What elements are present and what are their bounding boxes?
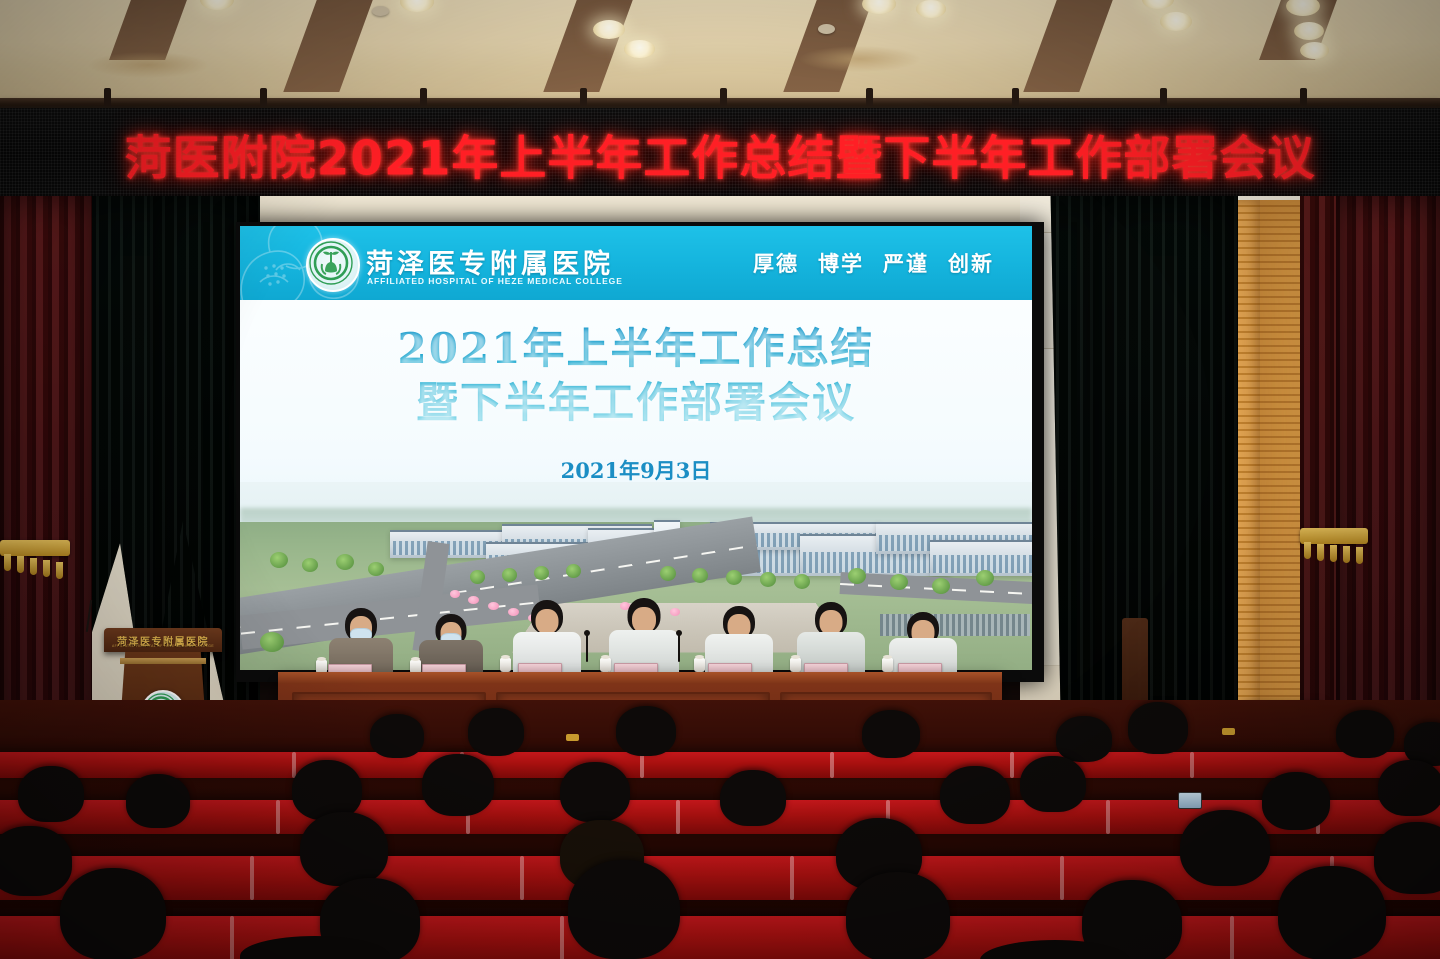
- slide-date: 2021年9月3日: [240, 455, 1032, 485]
- motto-word-1: 厚德: [753, 252, 799, 276]
- slide-title-line2: 暨下半年工作部署会议: [240, 376, 1032, 430]
- audience-head: [1262, 772, 1330, 830]
- audience-head: [126, 774, 190, 828]
- audience-head: [422, 754, 494, 816]
- audience-head: [568, 860, 680, 959]
- audience-head: [300, 812, 388, 886]
- ceiling-downlight: [200, 0, 234, 10]
- tea-cup: [790, 658, 801, 672]
- audience-head: [846, 872, 950, 959]
- podium-stripe: [120, 658, 206, 664]
- audience-head: [862, 710, 920, 758]
- podium-name-en: AFFILIATED HOSPITAL OF HEZE MEDICAL COLL…: [104, 644, 222, 648]
- audience-head: [720, 770, 786, 826]
- motto-word-2: 博学: [818, 252, 864, 276]
- podium-top: 菏泽医专附属医院 AFFILIATED HOSPITAL OF HEZE MED…: [104, 628, 222, 652]
- slide-header: 菏泽医专附属医院 AFFILIATED HOSPITAL OF HEZE MED…: [240, 226, 1032, 300]
- audience-head: [1020, 756, 1086, 812]
- audience-area: [0, 700, 1440, 959]
- motto-word-4: 创新: [948, 252, 994, 276]
- ceiling-downlight: [1300, 42, 1329, 59]
- ceiling-downlight: [916, 0, 946, 18]
- audience-head: [0, 826, 72, 896]
- audience-head: [468, 708, 524, 756]
- audience-head: [292, 760, 362, 820]
- table-microphone: [678, 634, 680, 662]
- table-top-edge: [278, 672, 1002, 684]
- audience-head: [370, 714, 424, 758]
- ceiling-downlight: [1294, 22, 1324, 40]
- slide-title: 2021年上半年工作总结 暨下半年工作部署会议: [240, 322, 1032, 430]
- audience-head: [60, 868, 166, 959]
- ceiling-downlight: [624, 40, 655, 58]
- stage-curtain-red-left: [0, 196, 92, 766]
- slide-hospital-name-en: AFFILIATED HOSPITAL OF HEZE MEDICAL COLL…: [367, 276, 623, 286]
- audience-head: [1128, 702, 1188, 754]
- tea-cup: [694, 658, 705, 672]
- audience-head: [1180, 810, 1270, 886]
- audience-head: [940, 766, 1010, 824]
- stage-curtain-red-right: [1336, 196, 1440, 766]
- motto-word-3: 严谨: [883, 252, 929, 276]
- ceiling-downlight: [400, 0, 434, 12]
- table-microphone: [586, 634, 588, 662]
- tea-cup: [882, 658, 893, 672]
- smoke-detector: [372, 6, 389, 16]
- ceiling-downlight: [593, 20, 625, 39]
- smoke-detector: [818, 24, 835, 34]
- tea-cup: [500, 658, 511, 672]
- conference-hall-scene: 菏医附院2021年上半年工作总结暨下半年工作部署会议: [0, 0, 1440, 959]
- led-banner: 菏医附院2021年上半年工作总结暨下半年工作部署会议: [0, 106, 1440, 202]
- audience-head: [1278, 866, 1386, 959]
- audience-head: [1378, 760, 1440, 816]
- slide-title-line1: 2021年上半年工作总结: [240, 322, 1032, 376]
- audience-head: [1374, 822, 1440, 894]
- audience-head: [1336, 710, 1394, 758]
- seat-row: [0, 752, 1440, 778]
- seat-row: [0, 916, 1440, 959]
- audience-phone: [1178, 792, 1202, 809]
- stage-curtain-dark-right: [1090, 196, 1238, 756]
- audience-head: [616, 706, 676, 756]
- audience-head: [18, 766, 84, 822]
- audience-head: [1056, 716, 1112, 762]
- led-banner-text: 菏医附院2021年上半年工作总结暨下半年工作部署会议: [0, 120, 1440, 189]
- hospital-logo-icon: [306, 238, 360, 292]
- slide-motto: 厚德博学严谨创新: [753, 248, 994, 278]
- audience-head: [560, 762, 630, 822]
- ceiling-downlight: [1160, 12, 1192, 31]
- ceiling-downlight: [1142, 0, 1174, 9]
- tea-cup: [600, 658, 611, 672]
